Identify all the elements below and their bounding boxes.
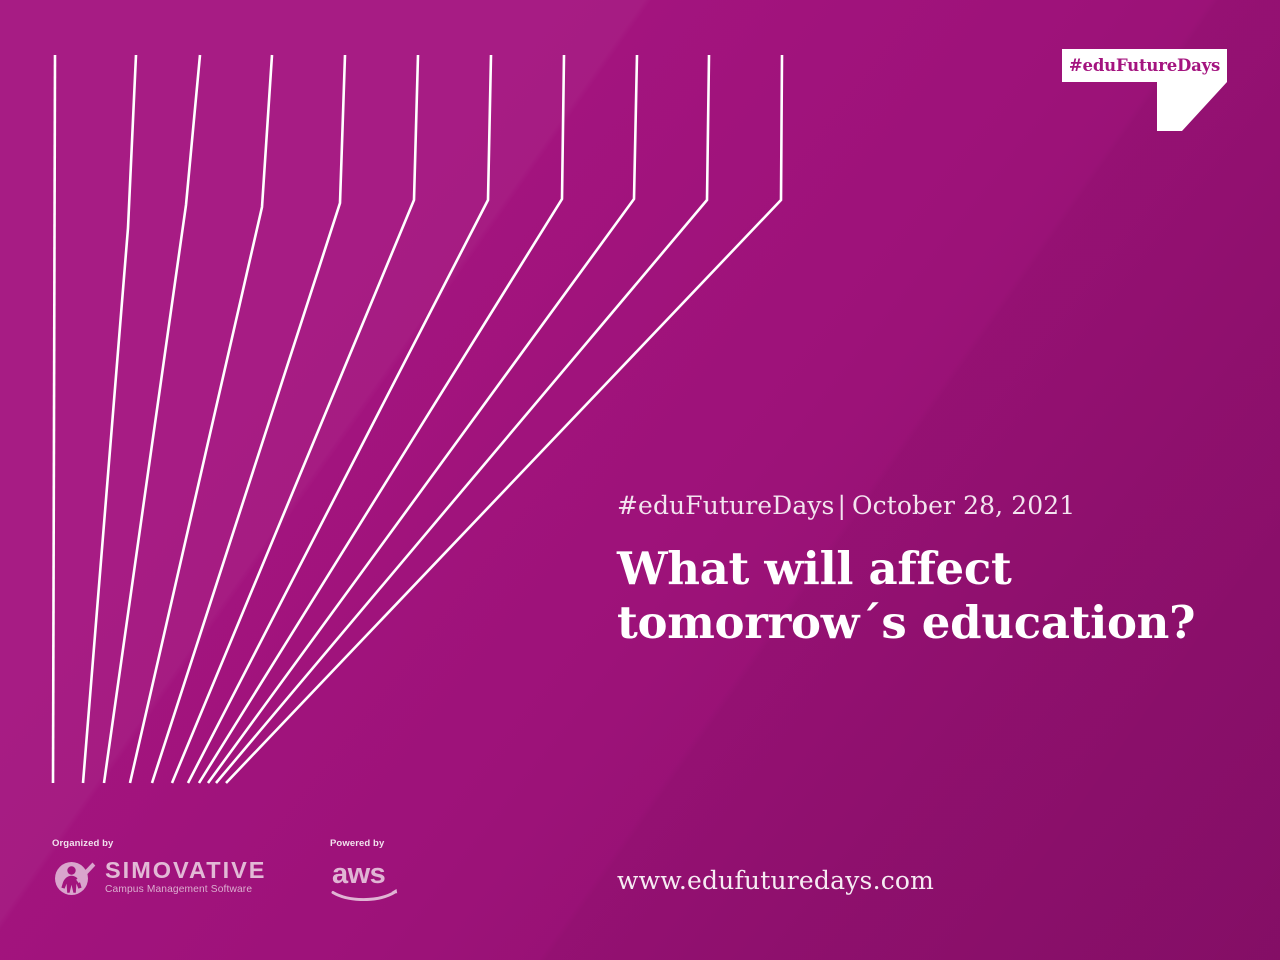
fan-line-7: [188, 55, 491, 783]
badge-label: #eduFutureDays: [1062, 56, 1227, 75]
fan-line-2: [83, 55, 136, 783]
headline-line-1: What will affect: [617, 542, 1237, 597]
simovative-mark-icon: [52, 857, 96, 897]
slide-copy-block: #eduFutureDays|October 28, 2021 What wil…: [617, 492, 1237, 681]
fan-of-lines-graphic: [0, 0, 820, 830]
presentation-slide: #eduFutureDays #eduFutureDays|October 28…: [0, 0, 1280, 960]
fan-line-1: [53, 55, 55, 783]
event-kicker: #eduFutureDays|October 28, 2021: [617, 492, 1237, 520]
kicker-hashtag: #eduFutureDays: [617, 491, 835, 520]
powered-by-caption: Powered by: [330, 838, 402, 849]
aws-logo-icon: aws: [330, 857, 402, 901]
fan-line-4: [130, 55, 272, 783]
website-url[interactable]: www.edufuturedays.com: [617, 866, 934, 895]
simovative-logo: SIMOVATIVE Campus Management Software: [52, 857, 266, 897]
simovative-wordmark: SIMOVATIVE Campus Management Software: [105, 859, 266, 896]
organized-by-block: Organized by SIMOVATIVE Ca: [52, 838, 266, 897]
kicker-separator: |: [835, 492, 853, 520]
fan-line-5: [152, 55, 345, 783]
svg-text:aws: aws: [332, 858, 385, 890]
edufuturedays-logo-badge: #eduFutureDays: [1062, 49, 1227, 131]
simovative-tagline: Campus Management Software: [105, 885, 266, 895]
headline-line-2: tomorrow´s education?: [617, 596, 1237, 651]
organized-by-caption: Organized by: [52, 838, 266, 849]
powered-by-block: Powered by aws: [330, 838, 402, 905]
fan-line-8: [199, 55, 564, 783]
fan-line-3: [104, 55, 200, 783]
simovative-brand-name: SIMOVATIVE: [105, 859, 266, 883]
fan-line-6: [172, 55, 418, 783]
page-title: What will affect tomorrow´s education?: [617, 542, 1237, 652]
kicker-date: October 28, 2021: [852, 491, 1075, 520]
